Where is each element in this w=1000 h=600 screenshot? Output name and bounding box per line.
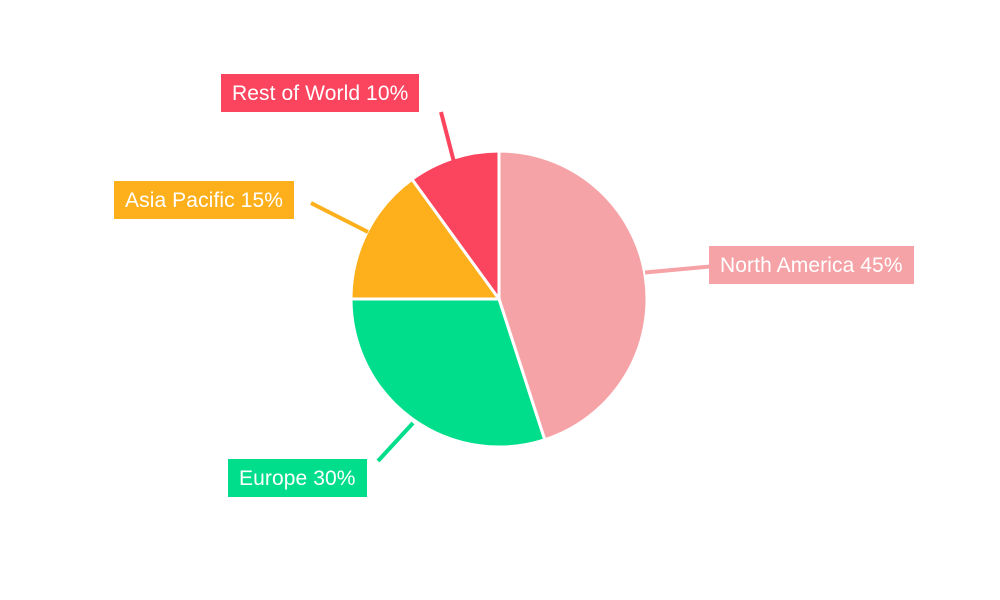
leader-line-rest-of-world [441,112,455,166]
pie-label-europe-text: Europe 30% [239,468,356,489]
pie-label-asia-pacific[interactable]: Asia Pacific 15% [114,181,294,219]
leader-line-north-america [645,267,710,273]
pie-label-north-america-text: North America 45% [720,255,903,276]
pie-label-north-america[interactable]: North America 45% [709,246,914,284]
leader-line-asia-pacific [311,203,368,232]
pie-label-rest-of-world-text: Rest of World 10% [232,83,408,104]
pie-chart-figure: North America 45% Europe 30% Asia Pacifi… [0,0,1000,600]
pie-label-asia-pacific-text: Asia Pacific 15% [125,190,283,211]
pie-label-rest-of-world[interactable]: Rest of World 10% [221,74,419,112]
pie-chart-canvas [0,0,1000,600]
leader-line-europe [378,423,413,461]
pie-slices-group [351,151,647,447]
pie-label-europe[interactable]: Europe 30% [228,459,367,497]
